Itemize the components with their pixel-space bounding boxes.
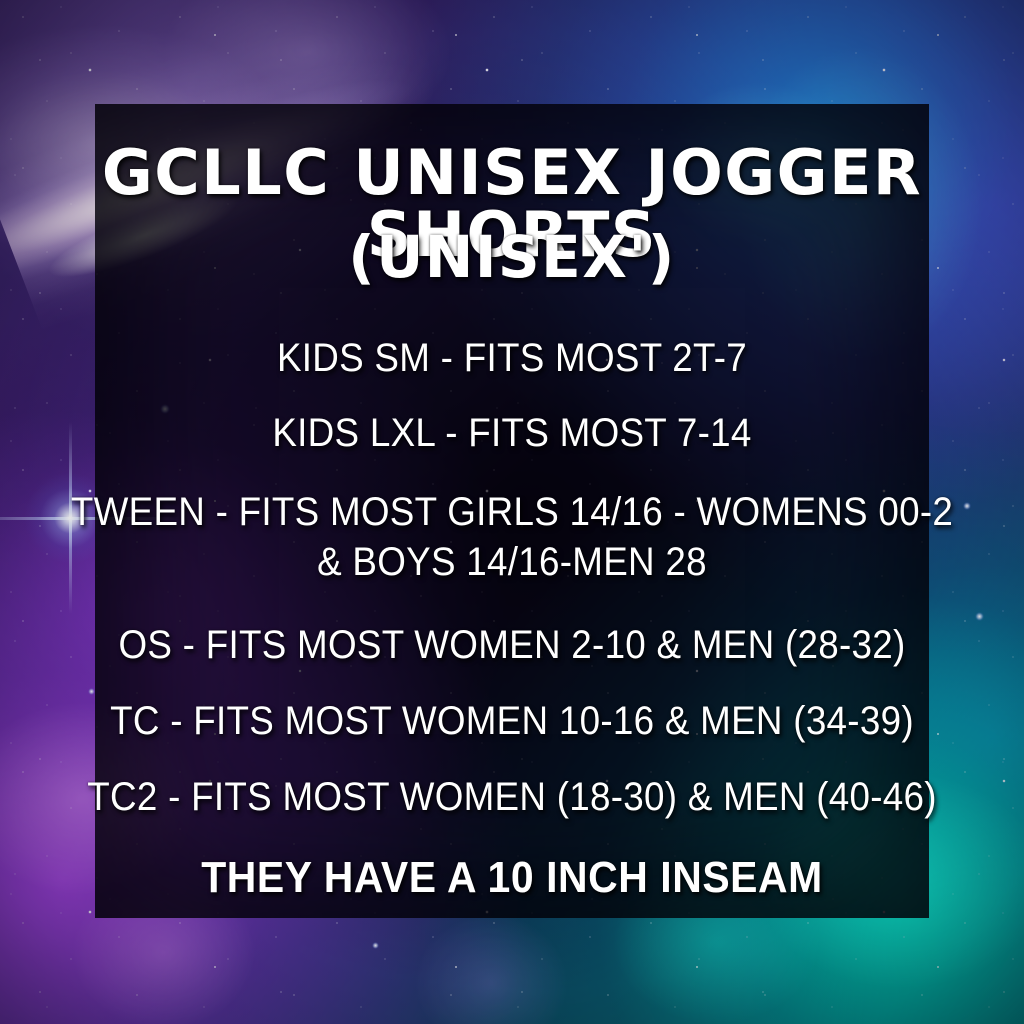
sizing-line-kids-sm: KIDS SM - FITS MOST 2T-7 [41,336,983,381]
sizing-chart-poster: GCLLC UNISEX JOGGER SHORTS (UNISEX') KID… [0,0,1024,1024]
sizing-line-os: OS - FITS MOST WOMEN 2-10 & MEN (28-32) [41,623,983,668]
page-subtitle: (UNISEX') [0,228,1024,286]
sizing-line-tc: TC - FITS MOST WOMEN 10-16 & MEN (34-39) [41,699,983,744]
sizing-line-kids-lxl: KIDS LXL - FITS MOST 7-14 [41,411,983,456]
sizing-line-tween: TWEEN - FITS MOST GIRLS 14/16 - WOMENS 0… [41,487,983,587]
poster-text-content: GCLLC UNISEX JOGGER SHORTS (UNISEX') KID… [0,0,1024,1024]
inseam-note: THEY HAVE A 10 INCH INSEAM [36,853,988,903]
sizing-line-tc2: TC2 - FITS MOST WOMEN (18-30) & MEN (40-… [41,775,983,820]
